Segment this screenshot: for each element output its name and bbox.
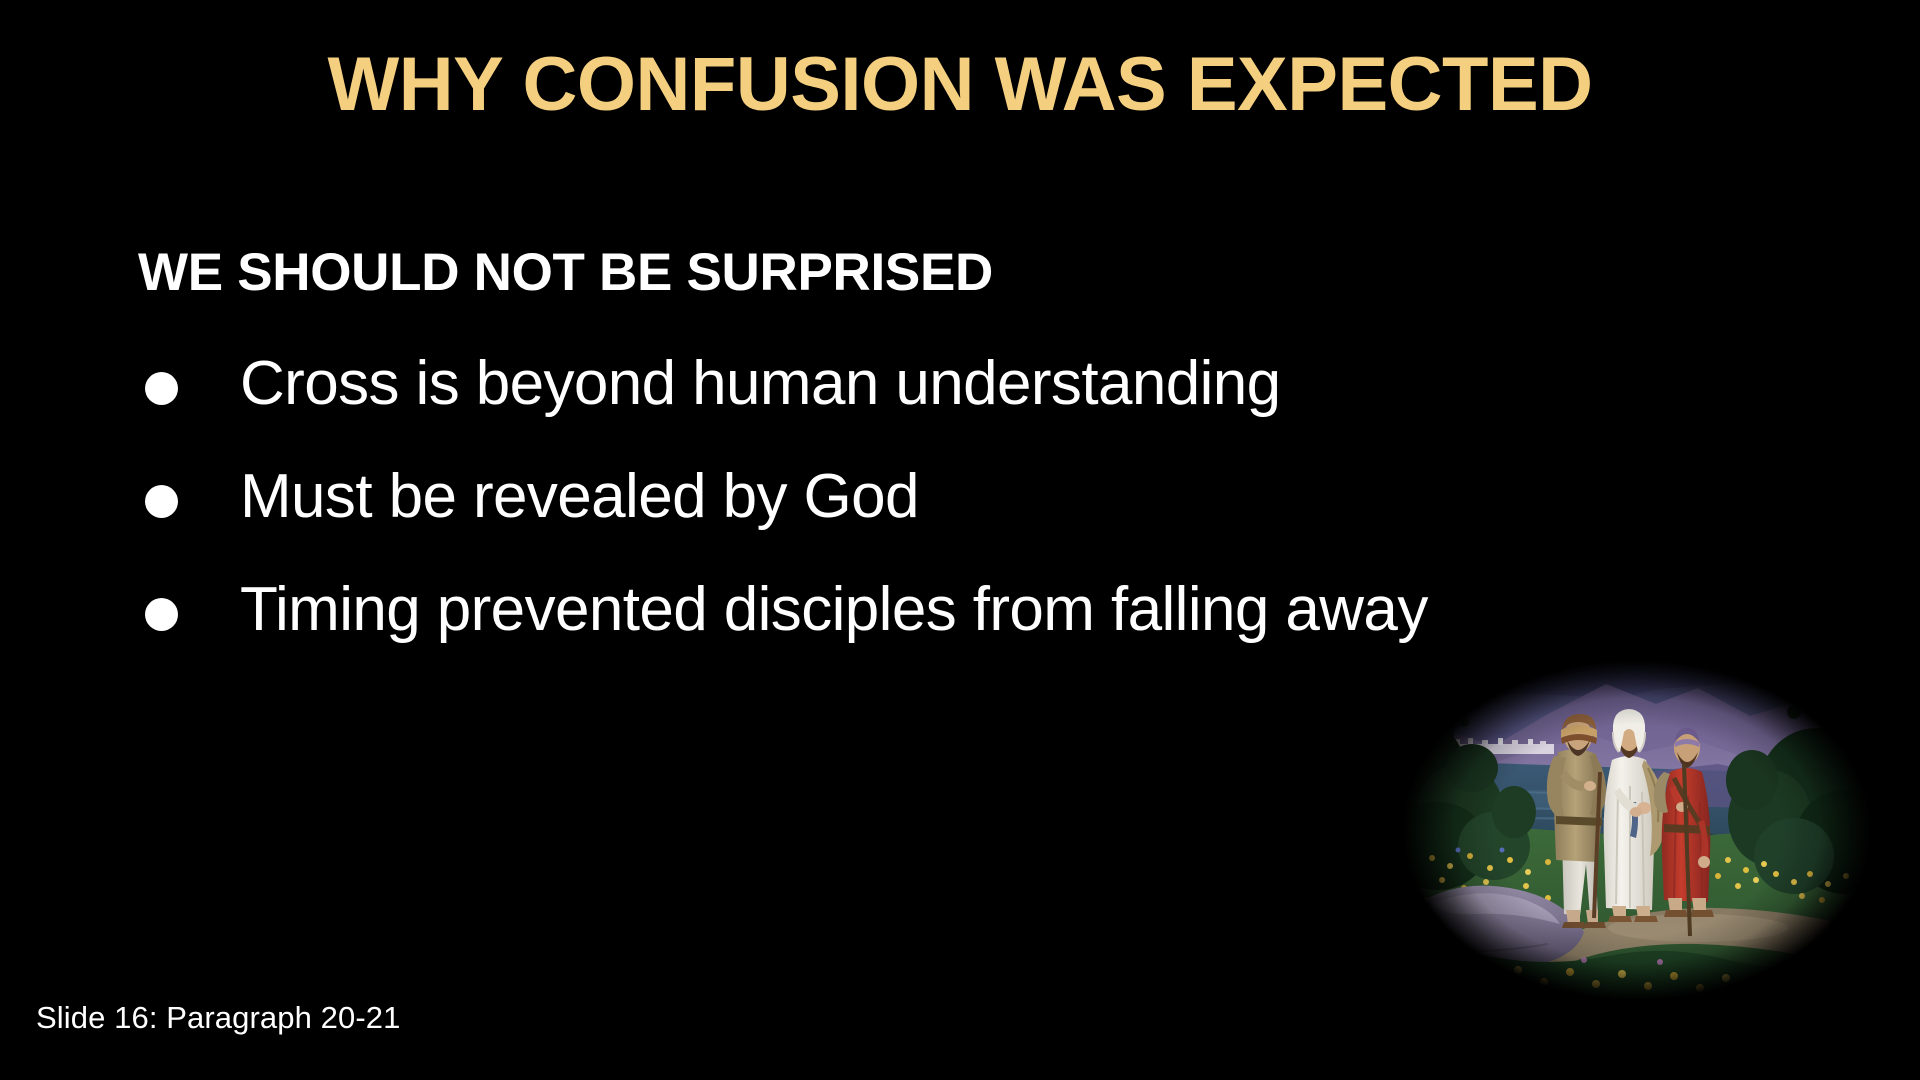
list-item: Cross is beyond human understanding bbox=[138, 350, 1638, 463]
bullet-list: Cross is beyond human understanding Must… bbox=[138, 350, 1638, 689]
list-item-label: Cross is beyond human understanding bbox=[240, 350, 1281, 418]
list-item-label: Must be revealed by God bbox=[240, 463, 919, 531]
illustration-frame bbox=[1398, 660, 1876, 1000]
road-to-emmaus-image bbox=[1398, 660, 1876, 1000]
list-item-label: Timing prevented disciples from falling … bbox=[240, 576, 1428, 644]
bullet-dot-icon bbox=[145, 372, 178, 405]
page-title: WHY CONFUSION WAS EXPECTED bbox=[0, 45, 1920, 126]
list-item: Must be revealed by God bbox=[138, 463, 1638, 576]
road-to-emmaus-artwork bbox=[1398, 660, 1876, 1000]
slide-footer-note: Slide 16: Paragraph 20-21 bbox=[36, 1000, 400, 1036]
slide-canvas: WHY CONFUSION WAS EXPECTED WE SHOULD NOT… bbox=[0, 0, 1920, 1080]
section-subheading: WE SHOULD NOT BE SURPRISED bbox=[138, 245, 993, 301]
bullet-dot-icon bbox=[145, 598, 178, 631]
bullet-dot-icon bbox=[145, 485, 178, 518]
